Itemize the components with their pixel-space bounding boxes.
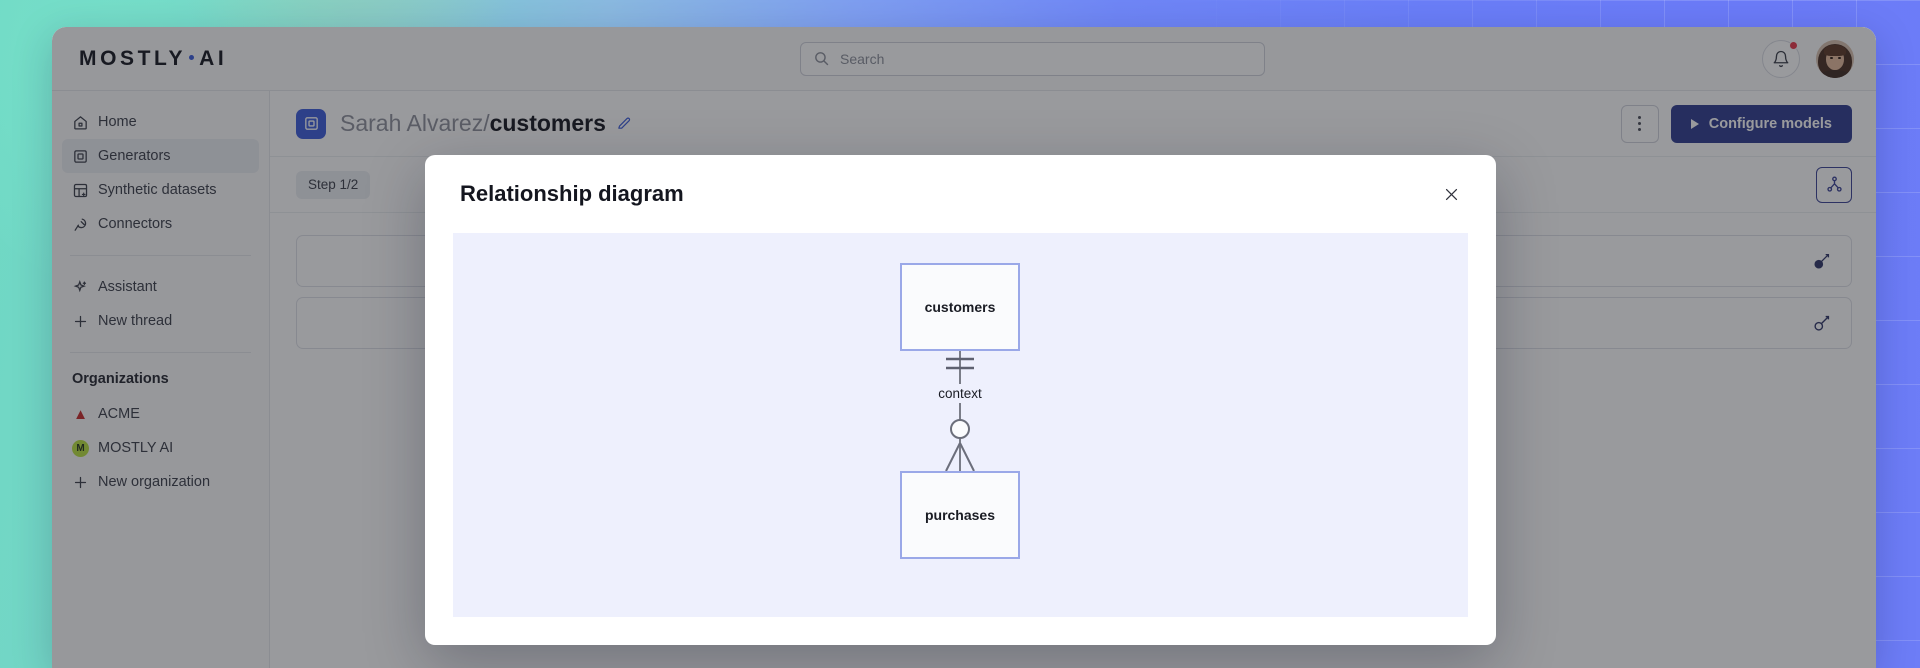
close-button[interactable] — [1434, 177, 1468, 211]
entity-label: customers — [925, 299, 996, 315]
relationship-diagram-canvas[interactable]: customers context purchases — [453, 233, 1468, 617]
relationship-connector — [900, 351, 1020, 471]
relationship-diagram-modal: Relationship diagram customers — [425, 155, 1496, 645]
relationship-label: context — [900, 384, 1020, 403]
close-icon — [1443, 186, 1460, 203]
entity-label: purchases — [925, 507, 995, 523]
entity-box-purchases[interactable]: purchases — [900, 471, 1020, 559]
modal-title: Relationship diagram — [460, 181, 684, 207]
modal-body: customers context purchases — [425, 233, 1496, 645]
entity-box-customers[interactable]: customers — [900, 263, 1020, 351]
modal-overlay: Relationship diagram customers — [0, 0, 1920, 668]
modal-header: Relationship diagram — [425, 155, 1496, 233]
